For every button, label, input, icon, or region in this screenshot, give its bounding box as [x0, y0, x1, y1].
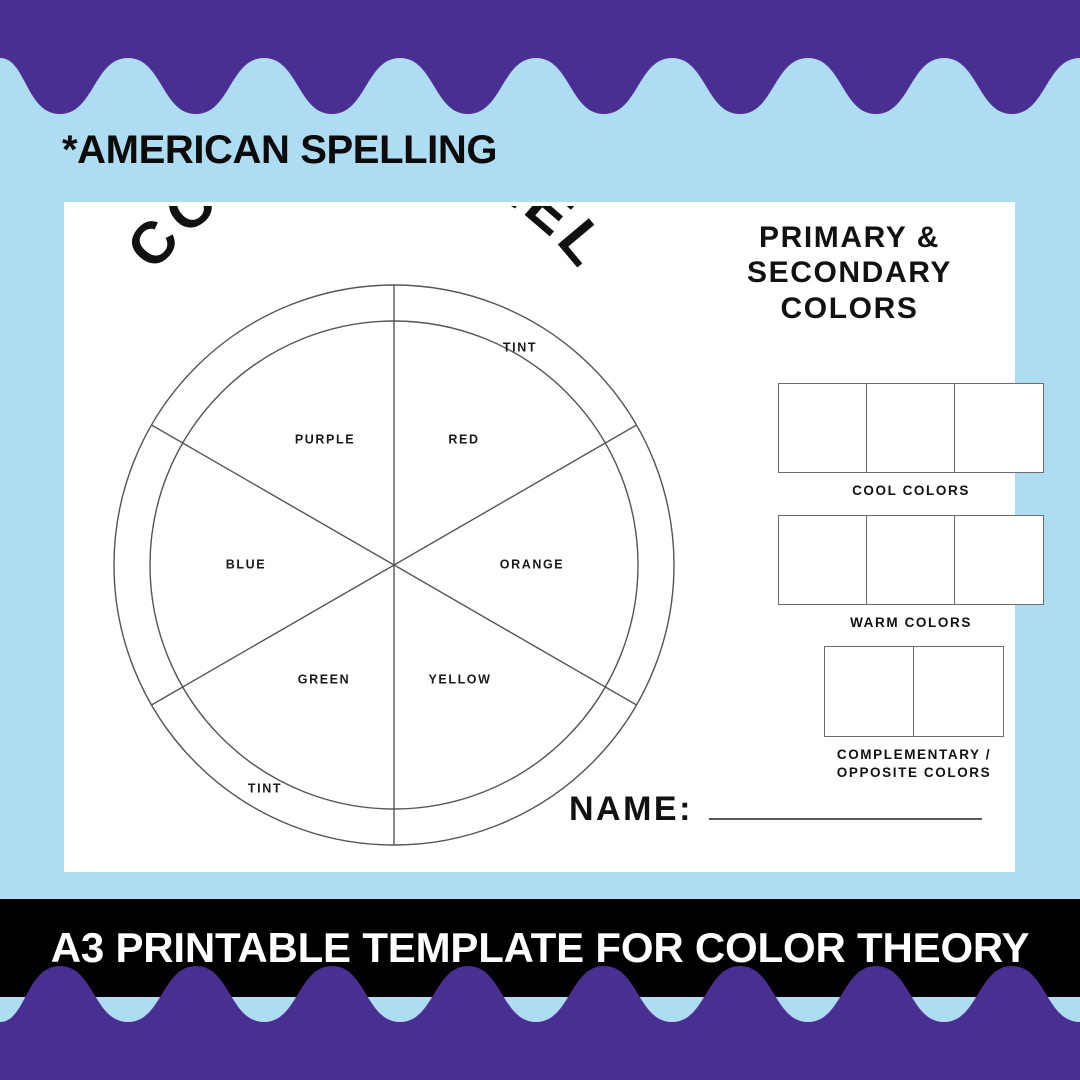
wheel-segment-label-red: RED — [448, 432, 479, 446]
swatch-caption-complementary-line-1: COMPLEMENTARY / — [824, 746, 1004, 764]
worksheet-card: COLOR WHEEL RED ORANGE YELLOW GREEN BLUE — [64, 202, 1015, 872]
swatch-row-warm — [778, 515, 1044, 605]
swatch-caption-complementary-line-2: OPPOSITE COLORS — [824, 764, 1004, 782]
swatch-cell[interactable] — [867, 384, 955, 472]
page-title: *AMERICAN SPELLING — [62, 128, 497, 173]
swatch-row-cool — [778, 383, 1044, 473]
swatch-group-complementary: COMPLEMENTARY / OPPOSITE COLORS — [824, 646, 1004, 782]
poster-canvas: *AMERICAN SPELLING COLOR WHEEL — [0, 0, 1080, 1080]
swatch-group-cool: COOL COLORS — [778, 383, 1044, 500]
swatch-panel-heading-line-2: SECONDARY — [684, 255, 1015, 290]
swatch-cell[interactable] — [955, 516, 1043, 604]
wheel-tint-label-top: TINT — [503, 340, 537, 354]
swatch-panel-heading-line-1: PRIMARY & — [684, 220, 1015, 255]
swatch-caption-complementary: COMPLEMENTARY / OPPOSITE COLORS — [824, 746, 1004, 782]
wave-decoration-top — [0, 0, 1080, 120]
name-input-line[interactable] — [709, 818, 982, 820]
wave-decoration-bottom — [0, 960, 1080, 1080]
swatch-cell[interactable] — [779, 384, 867, 472]
swatch-panel-heading: PRIMARY & SECONDARY COLORS — [684, 220, 1015, 326]
wheel-segment-label-blue: BLUE — [226, 557, 266, 571]
color-wheel-diagram: RED ORANGE YELLOW GREEN BLUE PURPLE TINT… — [64, 202, 684, 872]
swatch-panel: PRIMARY & SECONDARY COLORS COOL COLORS — [684, 202, 1015, 872]
name-field: NAME: — [569, 792, 982, 826]
swatch-caption-cool: COOL COLORS — [778, 482, 1044, 500]
wheel-segment-label-green: GREEN — [298, 672, 350, 686]
wheel-segment-label-yellow: YELLOW — [428, 672, 491, 686]
wheel-segment-label-orange: ORANGE — [500, 557, 564, 571]
swatch-group-warm: WARM COLORS — [778, 515, 1044, 632]
swatch-cell[interactable] — [825, 647, 914, 736]
swatch-cell[interactable] — [867, 516, 955, 604]
swatch-row-complementary — [824, 646, 1004, 737]
swatch-panel-heading-line-3: COLORS — [684, 291, 1015, 326]
swatch-caption-warm: WARM COLORS — [778, 614, 1044, 632]
name-label: NAME: — [569, 792, 693, 826]
swatch-cell[interactable] — [955, 384, 1043, 472]
swatch-cell[interactable] — [914, 647, 1003, 736]
wheel-segment-label-purple: PURPLE — [295, 432, 355, 446]
swatch-cell[interactable] — [779, 516, 867, 604]
wheel-tint-label-bottom: TINT — [248, 781, 282, 795]
color-wheel-figure: COLOR WHEEL RED ORANGE YELLOW GREEN BLUE — [64, 202, 684, 872]
